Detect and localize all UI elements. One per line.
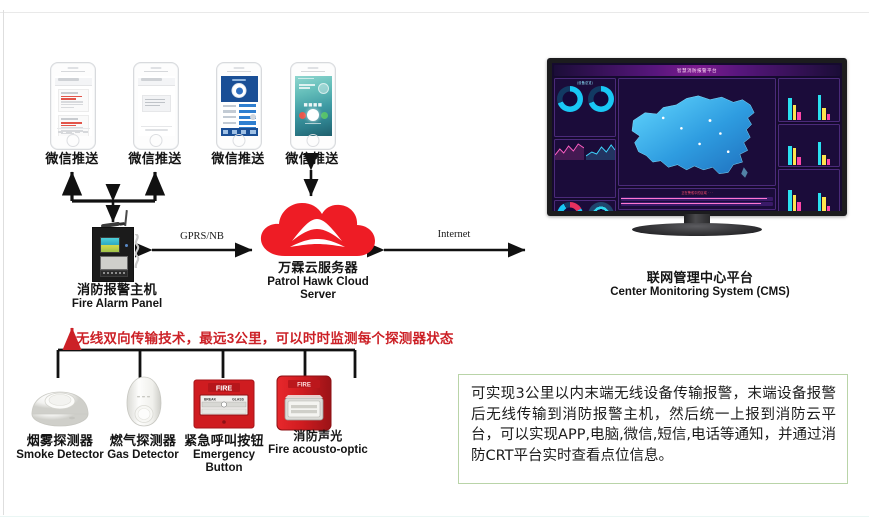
panel-status-led [125,244,128,247]
call-banner-text: ■■■■ [295,102,332,109]
svg-text:GLASS: GLASS [232,398,244,402]
panel-cable-icon [132,234,142,268]
phone-earpiece-icon [68,67,79,69]
fire-alarm-panel[interactable] [92,222,140,280]
wechat-header [138,78,175,86]
caller-avatar-icon [318,83,329,94]
panel-keypad[interactable] [100,270,128,277]
alarm-ratio-donut [555,201,584,211]
phone-earpiece-icon [151,67,162,69]
phone-incoming-call[interactable]: ■■■■ [290,62,336,150]
app-ui [221,76,258,136]
phone-app-device-list[interactable] [216,62,262,150]
phone-status-bar [138,71,174,75]
dashboard-title-bar: 智慧消防报警平台 [554,65,840,76]
left-kpi-panel: （设备总览） [554,78,616,137]
caller-name [299,84,315,91]
svg-text:BREAK: BREAK [204,398,217,402]
alert-row[interactable] [621,197,773,201]
phone-earpiece-icon [308,67,319,69]
china-map-panel [618,78,776,186]
phone-2-caption: 微信推送 [113,152,197,167]
page-left-rule [3,10,4,515]
dashboard-center-column: 正在警戒中的区域 · · · [618,78,776,211]
device-emergency-button[interactable]: FIRE BREAK GLASS [192,378,256,430]
lockscreen: ■■■■ [295,76,332,136]
message-bubble [142,95,171,112]
phone-earpiece-icon [234,67,245,69]
phone-screen [138,76,175,136]
cms-dashboard: 智慧消防报警平台 （设备总览） [552,63,842,211]
app-header [221,76,258,102]
phone-1-caption: 微信推送 [30,152,114,167]
phone-status-bar [55,71,91,75]
phone-wechat-message[interactable] [133,62,179,150]
link-label-gprs: GPRS/NB [152,231,252,242]
left-ring-panel [554,200,616,211]
phone-status-bar [295,71,331,75]
slide-hint [295,111,332,129]
phone-status-bar [221,71,257,75]
link-label-internet: Internet [404,229,504,240]
phone-screen: ■■■■ [295,76,332,136]
cms-monitor[interactable]: 智慧消防报警平台 （设备总览） [547,58,847,236]
dashboard-right-column [778,78,840,211]
monitor-bezel: 智慧消防报警平台 （设备总览） [547,58,847,216]
floating-action-icon[interactable] [250,114,256,120]
panel-body [92,227,134,282]
unit-stat-cell [778,124,840,168]
unit-stat-cell [778,169,840,211]
phone-home-button[interactable] [233,134,246,147]
ios-status-bar [298,78,329,81]
kpi-donut-cell [586,85,615,112]
cloud-server-caption: 万霖云服务器 Patrol Hawk Cloud Server [248,261,388,302]
phone-screen [221,76,258,136]
wireless-range-banner: 无线双向传输技术，最远3公里，可以时时监测每个探测器状态 [76,327,454,347]
phone-home-button[interactable] [67,134,80,147]
device-online-donut [586,201,615,211]
svg-text:FIRE: FIRE [216,383,233,392]
phone-home-button[interactable] [150,134,163,147]
alarm-card [58,89,89,112]
page-top-rule [0,12,869,13]
phone-3-caption: 微信推送 [196,152,280,167]
phone-screen [55,76,92,136]
cloud-server-icon [259,196,377,258]
sparkline-a [555,140,584,160]
left-trend-panel [554,139,616,198]
wechat-header [55,78,92,86]
dashboard-title: 智慧消防报警平台 [677,68,717,74]
svg-text:FIRE: FIRE [297,383,311,389]
phone-4-caption: 微信推送 [270,152,354,167]
diagram-canvas: 微信推送 微信推送 [0,0,869,524]
alert-warning-text: 正在警戒中的区域 · · · [619,189,775,195]
phone-wechat-alarm-list[interactable] [50,62,96,150]
cms-caption: 联网管理中心平台 Center Monitoring System (CMS) [600,271,800,299]
device-smoke-detector[interactable] [28,378,92,436]
description-note-box: 可实现3公里以内末端无线设备传输报警，末端设备报警后无线传输到消防报警主机，然后… [458,374,848,484]
unit-stat-cell [778,78,840,122]
phone-home-button[interactable] [307,134,320,147]
sparkline-b [586,140,615,160]
monitor-base [632,223,762,236]
device-fire-acousto-optic[interactable]: FIRE [274,374,334,432]
alert-row[interactable] [621,202,773,206]
description-note-text: 可实现3公里以内末端无线设备传输报警，末端设备报警后无线传输到消防报警主机，然后… [459,375,847,475]
page-bottom-rule [0,516,869,517]
panel-label-plate [100,256,128,270]
app-logo-icon [232,83,247,98]
device-gas-detector[interactable] [112,372,176,430]
panel-lcd-screen [100,237,120,253]
emergency-button-caption: 紧急呼叫按钮 Emergency Button [178,434,270,475]
kpi-donut-cell [555,85,584,112]
fire-acousto-optic-caption: 消防声光 Fire acousto-optic [264,430,372,457]
fire-panel-caption: 消防报警主机 Fire Alarm Panel [62,283,172,311]
alert-ticker-panel: 正在警戒中的区域 · · · [618,188,776,210]
dashboard-left-column: （设备总览） [554,78,616,211]
